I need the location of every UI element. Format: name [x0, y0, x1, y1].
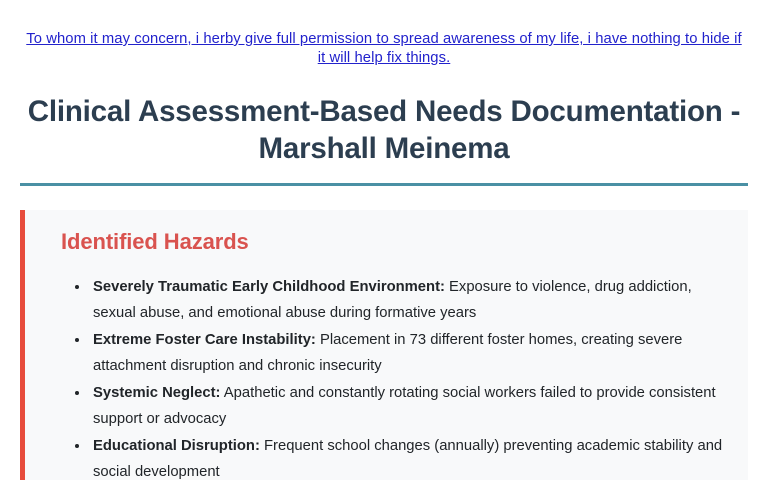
title-divider	[20, 183, 748, 186]
permission-statement: To whom it may concern, i herby give ful…	[20, 0, 748, 67]
hazard-term: Severely Traumatic Early Childhood Envir…	[93, 279, 445, 295]
identified-hazards-panel: Identified Hazards Severely Traumatic Ea…	[20, 210, 748, 480]
hazard-term: Educational Disruption:	[93, 438, 260, 454]
permission-statement-link[interactable]: To whom it may concern, i herby give ful…	[23, 30, 745, 67]
list-item: Educational Disruption: Frequent school …	[90, 433, 730, 480]
list-item: Systemic Neglect: Apathetic and constant…	[90, 380, 730, 432]
page-title: Clinical Assessment-Based Needs Document…	[20, 67, 748, 167]
hazards-list: Severely Traumatic Early Childhood Envir…	[43, 274, 730, 480]
section-heading-identified-hazards: Identified Hazards	[43, 224, 730, 256]
hazard-term: Extreme Foster Care Instability:	[93, 332, 316, 348]
document-page: To whom it may concern, i herby give ful…	[0, 0, 768, 480]
list-item: Severely Traumatic Early Childhood Envir…	[90, 274, 730, 326]
list-item: Extreme Foster Care Instability: Placeme…	[90, 327, 730, 379]
hazard-term: Systemic Neglect:	[93, 385, 220, 401]
